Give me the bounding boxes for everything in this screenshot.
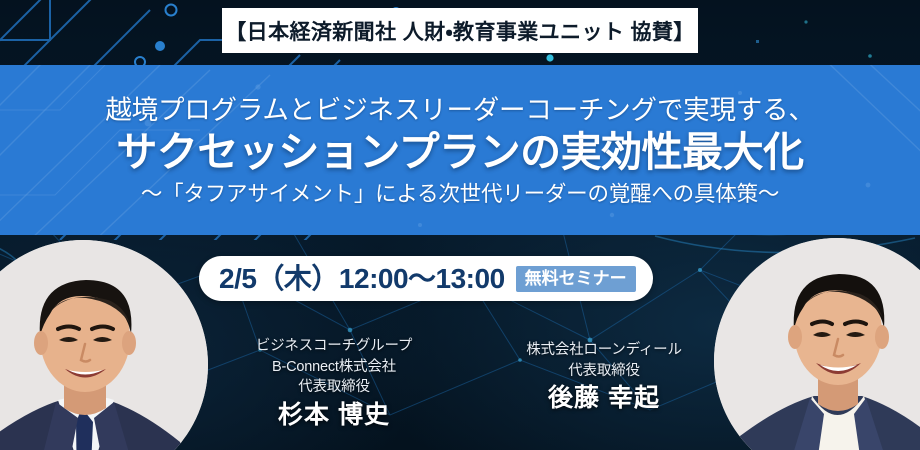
speaker-right-org-line-1: 株式会社ローンディール [492, 340, 716, 361]
title-line-3: 〜「タフアサイメント」による次世代リーダーの覚醒への具体策〜 [141, 184, 779, 206]
speaker-left-org-line-2: B-Connect株式会社 [218, 357, 450, 378]
schedule-pill: 2/5（木）12:00〜13:00 無料セミナー [199, 256, 653, 301]
speaker-right-org-line-2: 代表取締役 [492, 361, 716, 382]
speaker-right-name: 後藤 幸起 [492, 386, 716, 411]
speaker-photo-right [714, 238, 920, 450]
schedule-datetime: 2/5（木）12:00〜13:00 [219, 265, 505, 293]
seminar-banner: 【日本経済新聞社 人財・教育事業ユニット 協賛】 [0, 0, 920, 450]
speaker-left-name: 杉本 博史 [218, 403, 450, 428]
speaker-info-left: ビジネスコーチグループ B-Connect株式会社 代表取締役 杉本 博史 [218, 336, 450, 428]
speaker-info-right: 株式会社ローンディール 代表取締役 後藤 幸起 [492, 340, 716, 411]
speaker-left-org-line-1: ビジネスコーチグループ [218, 336, 450, 357]
portrait-illustration-right [714, 238, 920, 450]
portrait-illustration-left [0, 240, 208, 450]
title-line-2: サクセッションプランの実効性最大化 [116, 132, 803, 173]
free-seminar-badge: 無料セミナー [516, 266, 636, 292]
sponsor-box: 【日本経済新聞社 人財・教育事業ユニット 協賛】 [222, 8, 698, 53]
title-line-1: 越境プログラムとビジネスリーダーコーチングで実現する、 [105, 97, 814, 124]
sponsor-label: 【日本経済新聞社 人財・教育事業ユニット 協賛】 [225, 16, 694, 46]
speaker-photo-left [0, 240, 208, 450]
title-band: 越境プログラムとビジネスリーダーコーチングで実現する、 サクセッションプランの実… [0, 65, 920, 235]
speaker-left-org-line-3: 代表取締役 [218, 377, 450, 398]
